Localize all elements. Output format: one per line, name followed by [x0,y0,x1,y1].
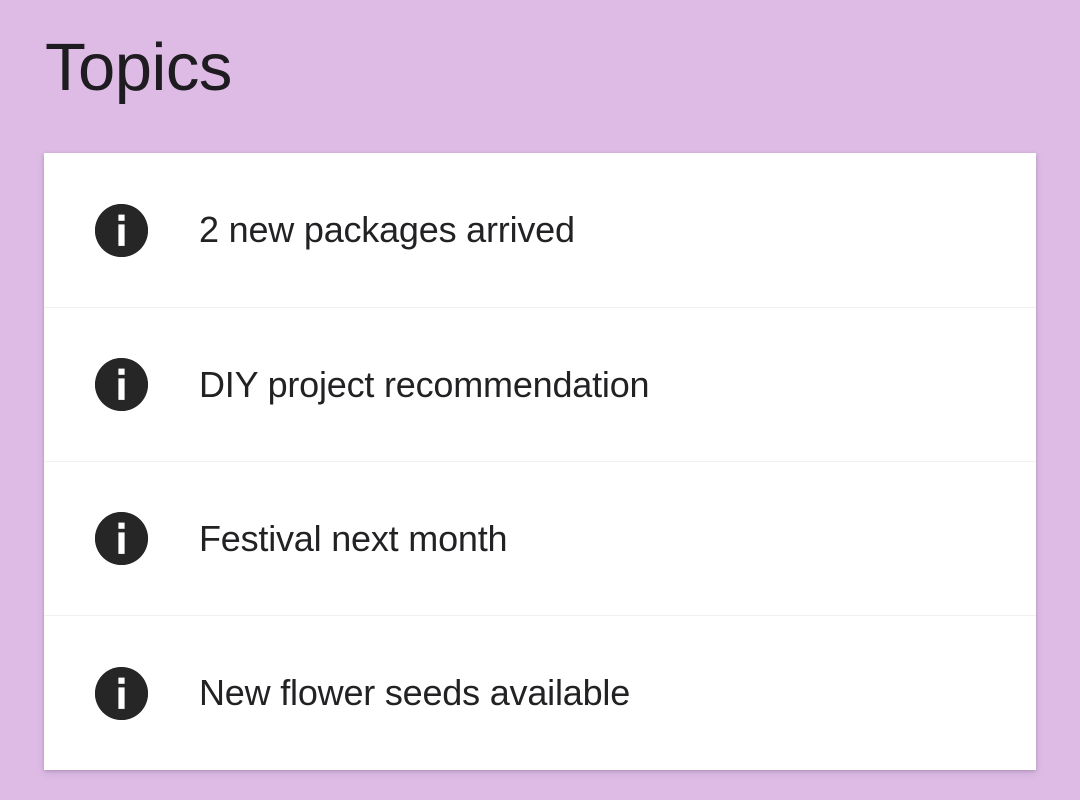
info-icon [95,204,148,257]
info-icon [95,667,148,720]
topics-card: 2 new packages arrived DIY project recom… [44,153,1036,770]
info-icon [95,512,148,565]
list-item-label: New flower seeds available [199,673,630,713]
topic-list: 2 new packages arrived DIY project recom… [44,153,1036,770]
info-icon [95,358,148,411]
list-item[interactable]: DIY project recommendation [44,307,1036,461]
list-item-label: DIY project recommendation [199,365,649,405]
list-item-label: 2 new packages arrived [199,210,575,250]
list-item[interactable]: Festival next month [44,461,1036,615]
list-item[interactable]: 2 new packages arrived [44,153,1036,307]
screen-root: Topics 2 new packages arrived [0,0,1080,800]
page-title: Topics [45,28,232,108]
list-item-label: Festival next month [199,519,507,559]
list-item[interactable]: New flower seeds available [44,615,1036,770]
